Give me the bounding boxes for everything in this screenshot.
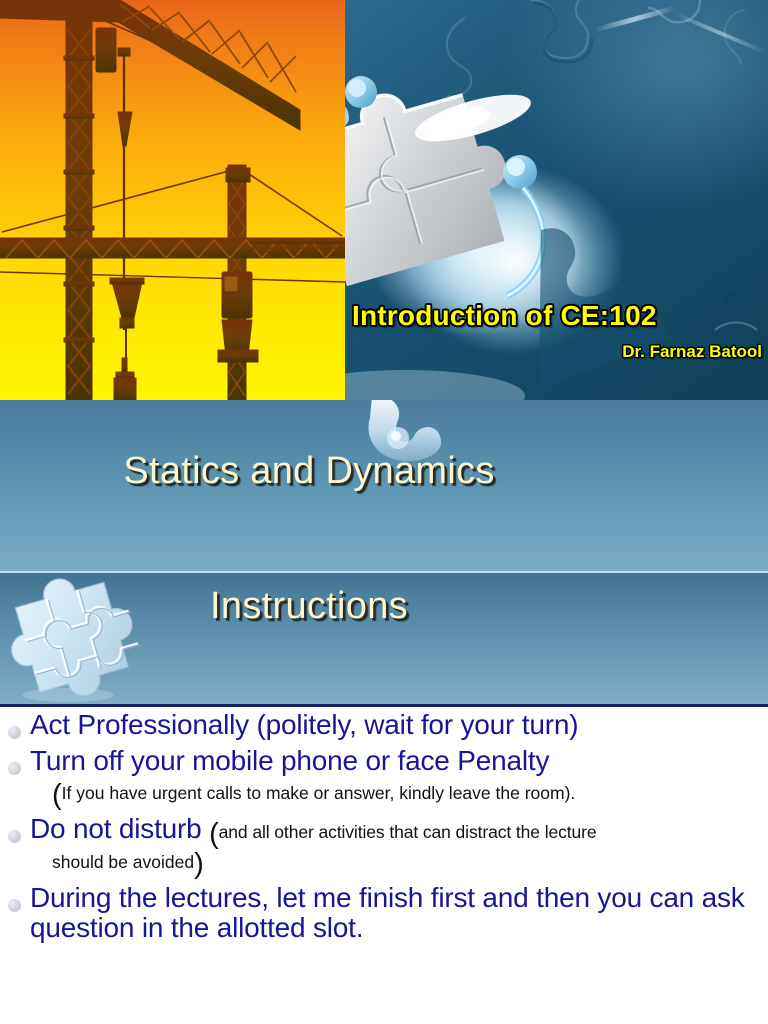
bullet-text-let-me-finish-first: During the lectures, let me finish first…	[30, 883, 762, 943]
note-body-cont: should be avoided	[52, 852, 194, 872]
note-period: .	[570, 783, 575, 803]
bullet-dot-icon	[8, 899, 21, 912]
page-title: Introduction of CE:102	[352, 300, 762, 332]
bullet-main-text: Do not disturb	[30, 813, 209, 844]
list-item: Turn off your mobile phone or face Penal…	[0, 746, 768, 776]
bullet-note-do-not-disturb-cont: should be avoided)	[0, 852, 768, 873]
note-body: If you have urgent calls to make or answ…	[62, 783, 571, 803]
presenter-name: Dr. Farnaz Batool	[622, 342, 762, 362]
note-close-paren: )	[194, 848, 204, 880]
hero-image-band: Introduction of CE:102 Dr. Farnaz Batool	[0, 0, 768, 400]
bullet-dot-icon	[8, 762, 21, 775]
list-item: During the lectures, let me finish first…	[0, 883, 768, 943]
crane-silhouette-graphic	[0, 0, 345, 400]
course-title: Statics and Dynamics	[0, 450, 768, 493]
puzzle-pieces-photo	[345, 0, 768, 400]
bullet-dot-icon	[8, 726, 21, 739]
note-open-paren: (	[52, 779, 62, 811]
bullet-text-turn-off-mobile: Turn off your mobile phone or face Penal…	[30, 746, 762, 776]
instructions-list: Act Professionally (politely, wait for y…	[0, 710, 768, 1024]
presentation-slide: Introduction of CE:102 Dr. Farnaz Batool…	[0, 0, 768, 1024]
note-open-paren: (	[209, 818, 219, 850]
course-title-band: Statics and Dynamics	[0, 400, 768, 571]
instructions-header-band: Instructions	[0, 571, 768, 707]
construction-crane-photo	[0, 0, 345, 400]
list-item: Do not disturb (and all other activities…	[0, 814, 768, 844]
note-body: and all other activities that can distra…	[219, 822, 597, 842]
bullet-note-mobile: (If you have urgent calls to make or ans…	[0, 783, 768, 804]
bullet-dot-icon	[8, 830, 21, 843]
puzzle-render-graphic	[345, 0, 768, 400]
bullet-text-act-professionally: Act Professionally (politely, wait for y…	[30, 710, 762, 740]
list-item: Act Professionally (politely, wait for y…	[0, 710, 768, 740]
bullet-text-do-not-disturb: Do not disturb (and all other activities…	[30, 814, 762, 844]
bullet-note-inline: (and all other activities that can distr…	[209, 822, 596, 842]
instructions-title: Instructions	[0, 585, 768, 628]
